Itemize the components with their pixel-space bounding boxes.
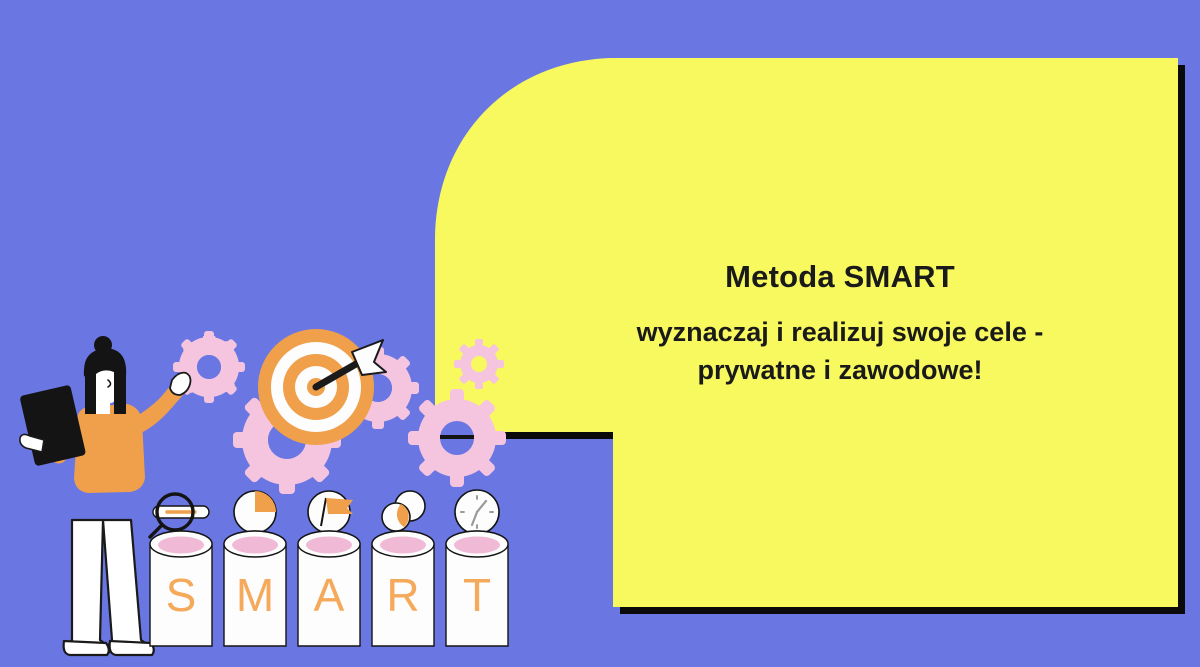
- pillar-letter: A: [314, 569, 345, 621]
- pillar-letter: R: [386, 569, 419, 621]
- smart-pillar: R: [372, 491, 434, 646]
- pillar-letter: T: [463, 569, 491, 621]
- pillar-letter: S: [166, 569, 197, 621]
- pillar-rim-fill: [306, 537, 352, 554]
- venn-circles-icon: [382, 491, 425, 531]
- smart-pillar: S: [150, 494, 212, 646]
- pillar-rim-fill: [158, 537, 204, 554]
- flag-icon: [308, 491, 353, 533]
- pie-chart-icon: [234, 491, 276, 533]
- pillars-layer: SMART: [0, 0, 1200, 667]
- pillar-rim-fill: [380, 537, 426, 554]
- smart-pillar: A: [298, 491, 360, 646]
- pillar-rim-fill: [232, 537, 278, 554]
- poster-canvas: SMART Metoda SMART wyznaczaj i realizuj …: [0, 0, 1200, 667]
- pillar-rim-fill: [454, 537, 500, 554]
- pillar-letter: M: [236, 569, 274, 621]
- smart-pillar: T: [446, 490, 508, 646]
- clock-icon: [455, 490, 499, 534]
- smart-pillar: M: [224, 491, 286, 646]
